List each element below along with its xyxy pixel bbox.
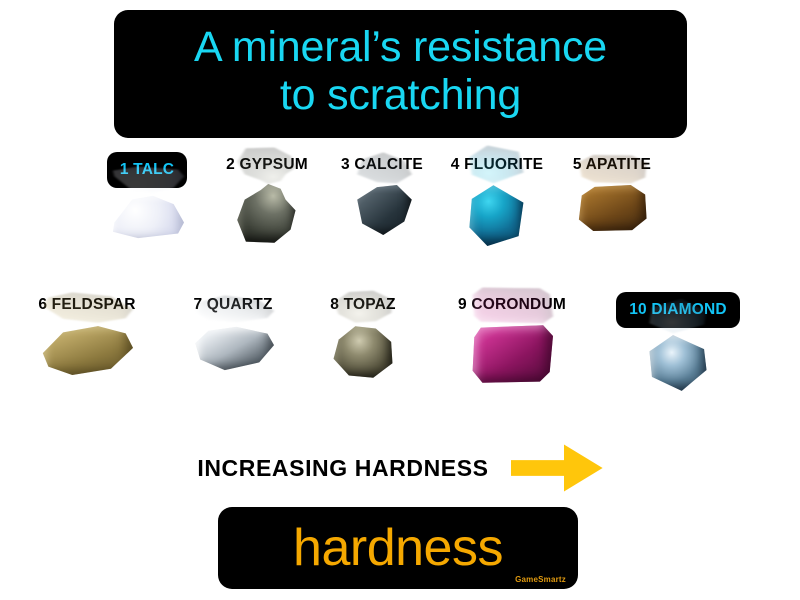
specimen-wrap-diamond [632,334,724,426]
quartz-specimen [192,324,274,372]
term-text: hardness [293,522,503,574]
right-arrow-icon [511,440,603,496]
diamond-reflection [647,298,709,334]
mineral-card-gypsum[interactable]: 2 GYPSUM [208,152,326,286]
mineral-card-fluorite[interactable]: 4 FLUORITE [438,152,556,286]
specimen-wrap-feldspar [41,324,133,416]
increasing-hardness-strip: INCREASING HARDNESS [0,438,800,498]
apatite-specimen [576,184,648,232]
mineral-card-calcite[interactable]: 3 CALCITE [326,152,438,286]
mineral-card-apatite[interactable]: 5 APATITE [556,152,668,286]
quartz-reflection [192,294,274,324]
fluorite-specimen [467,184,527,246]
corundum-specimen [471,324,553,384]
mineral-card-diamond[interactable]: 10 DIAMOND [598,292,758,426]
increasing-hardness-label: INCREASING HARDNESS [197,455,488,482]
fluorite-reflection [467,146,527,184]
feldspar-specimen [41,324,133,376]
topaz-specimen [331,324,395,380]
mineral-card-quartz[interactable]: 7 QUARTZ [166,292,300,426]
definition-text: A mineral’s resistance to scratching [194,23,607,119]
definition-banner: A mineral’s resistance to scratching [114,10,687,138]
specimen-wrap-topaz [317,324,409,416]
specimen-wrap-talc [101,194,193,286]
gypsum-specimen [236,184,298,244]
feldspar-reflection [41,292,133,324]
specimen-wrap-calcite [336,184,428,276]
talc-specimen [110,194,184,240]
mohs-hardness-scale: 1 TALC 2 GYPSUM 3 CALC [0,152,800,442]
calcite-specimen [351,184,413,236]
mineral-card-corundum[interactable]: 9 CORONDUM [426,292,598,426]
specimen-wrap-gypsum [221,184,313,276]
specimen-wrap-corundum [466,324,558,416]
specimen-wrap-quartz [187,324,279,416]
corundum-reflection [471,287,553,324]
calcite-reflection [351,152,413,184]
mineral-card-feldspar[interactable]: 6 FELDSPAR [8,292,166,426]
specimen-wrap-fluorite [451,184,543,276]
mineral-row-1: 1 TALC 2 GYPSUM 3 CALC [0,152,800,286]
talc-reflection [110,165,184,194]
watermark-label: GameSmartz [515,575,566,584]
mineral-card-talc[interactable]: 1 TALC [82,152,212,286]
diamond-specimen [647,334,709,392]
mineral-card-topaz[interactable]: 8 TOPAZ [300,292,426,426]
specimen-wrap-apatite [566,184,658,276]
gypsum-reflection [236,147,298,184]
term-banner: hardness GameSmartz [218,507,578,589]
mineral-row-2: 6 FELDSPAR 7 QUARTZ 8 [0,292,800,426]
apatite-reflection [576,154,648,184]
topaz-reflection [331,289,395,324]
